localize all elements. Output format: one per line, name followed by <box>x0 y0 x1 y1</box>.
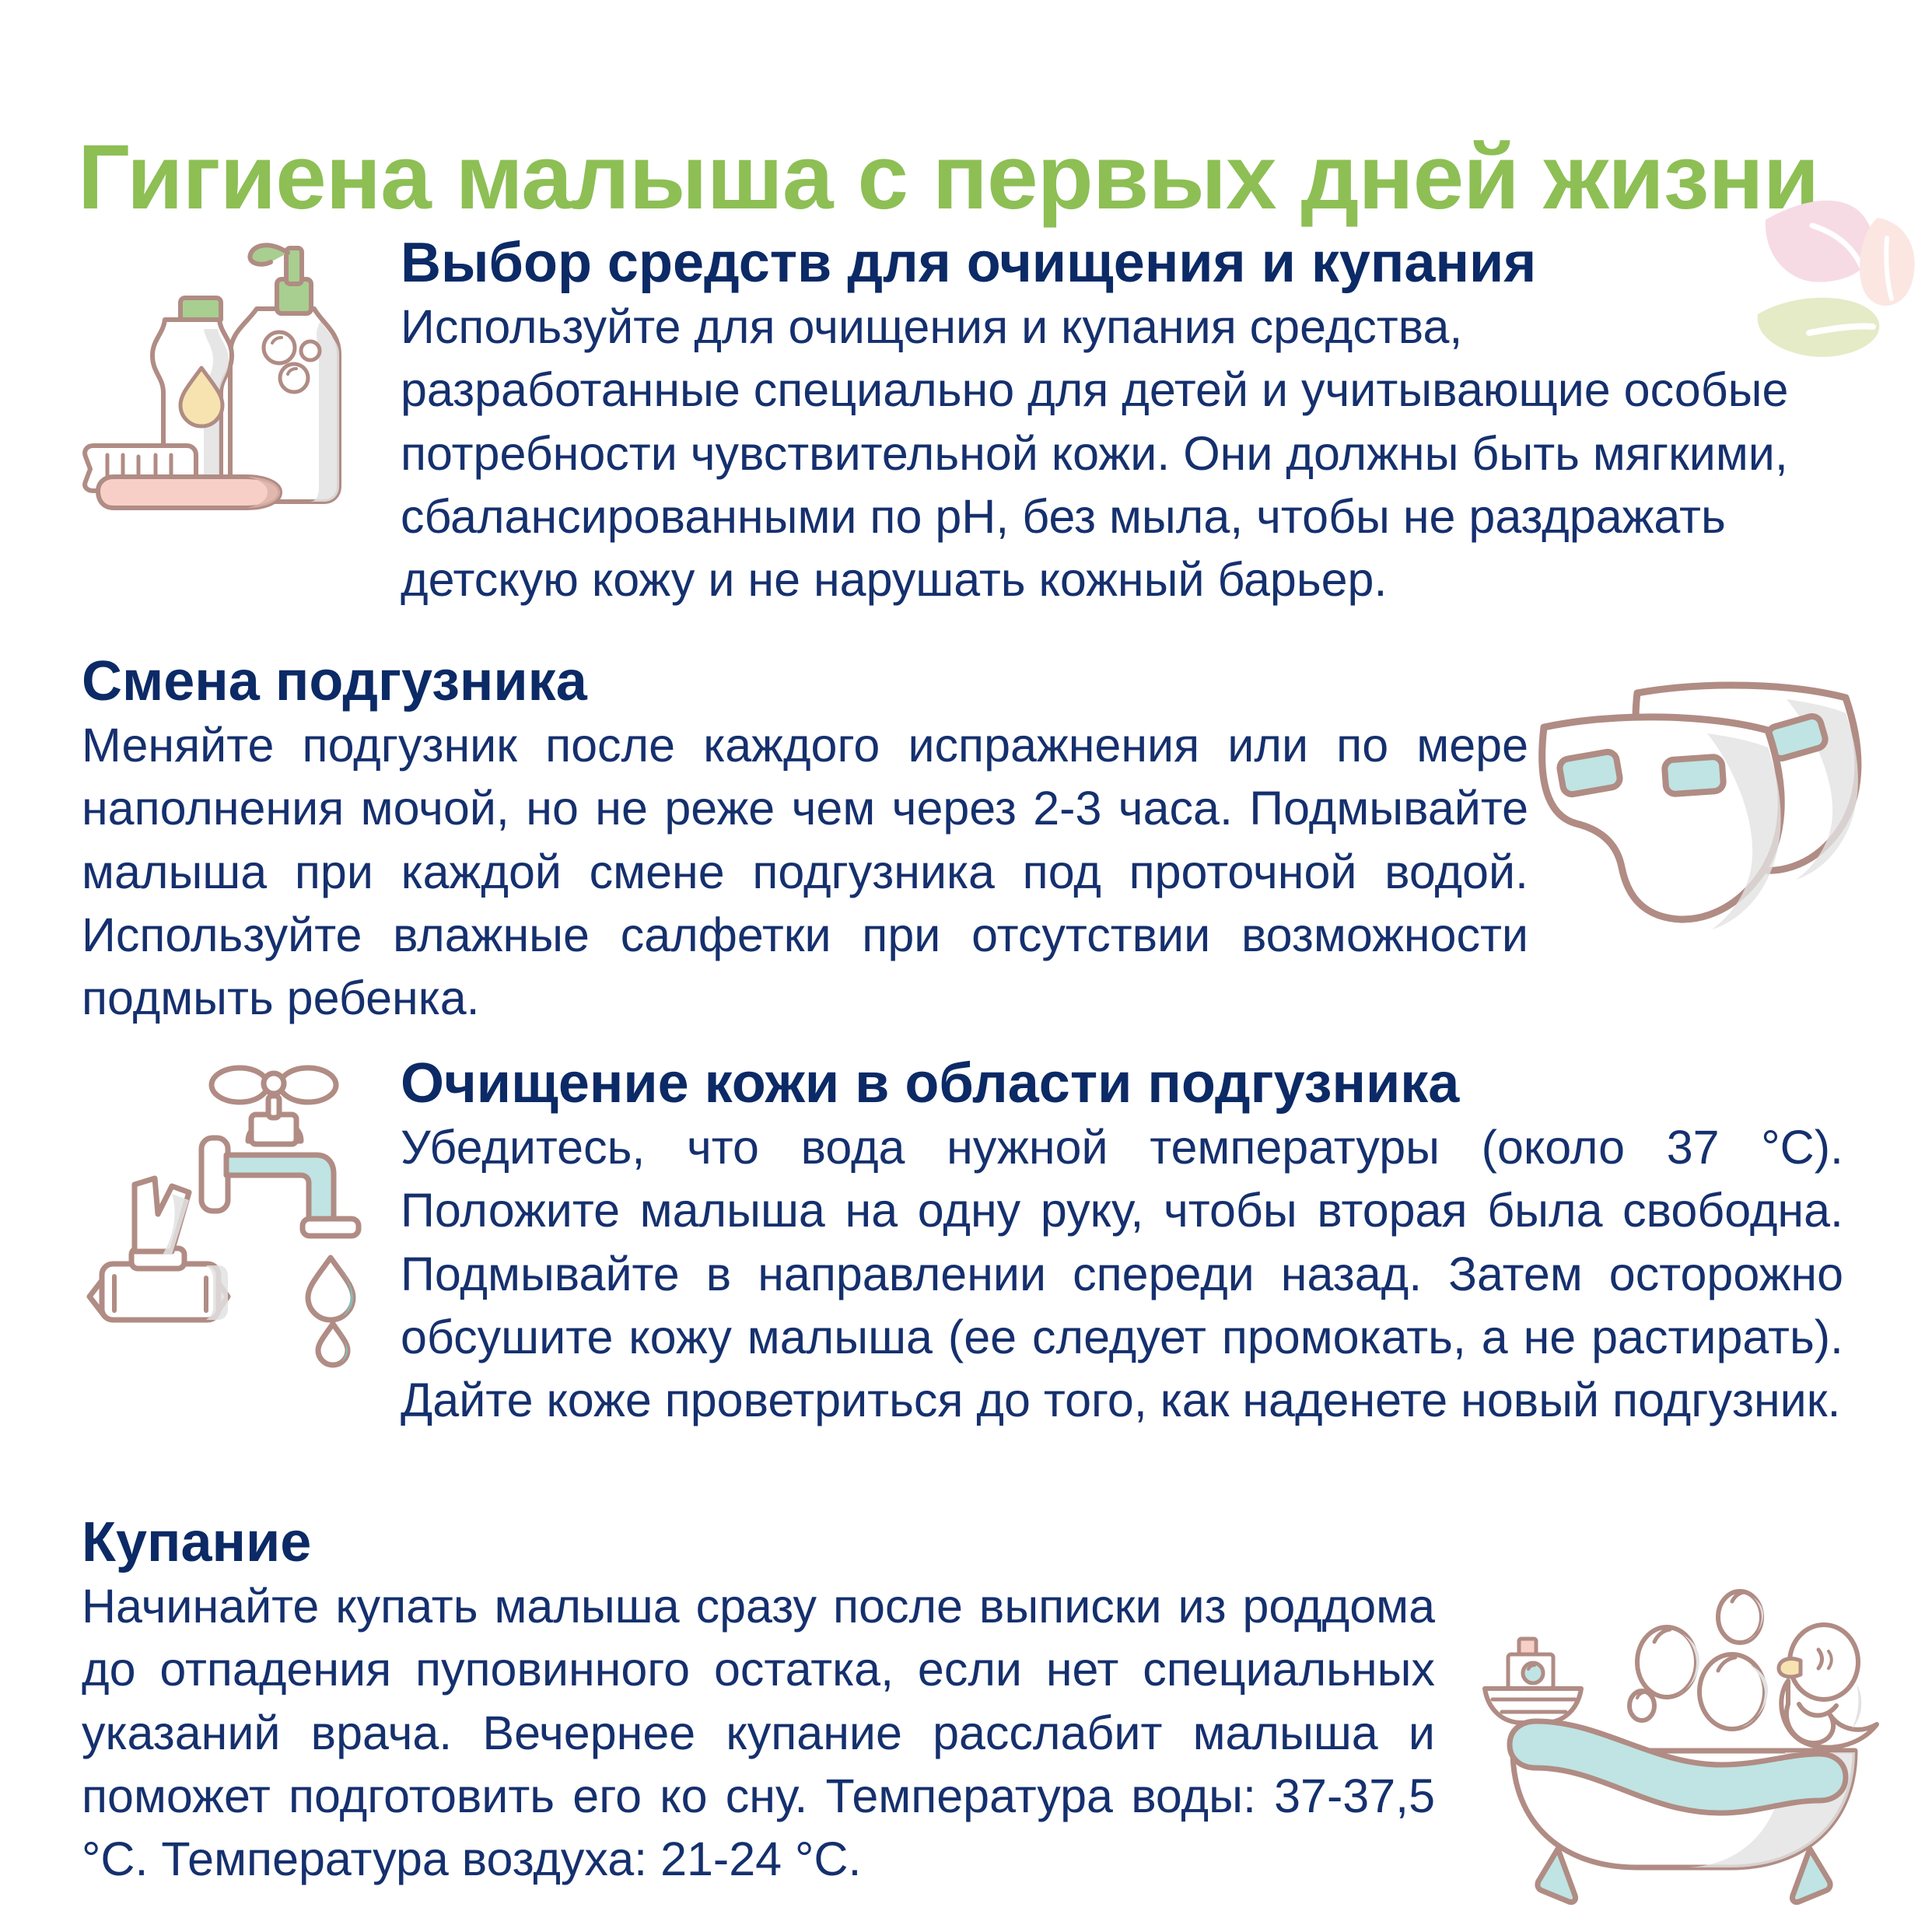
section-heading-diaper-change: Смена подгузника <box>82 652 1528 711</box>
section-heading-bathing: Купание <box>82 1513 1435 1572</box>
section-bathing: Купание Начинайте купать малыша сразу по… <box>82 1513 1435 1891</box>
section-skin-cleansing: Очищение кожи в области подгузника Убеди… <box>401 1054 1843 1432</box>
section-heading-skin-cleansing: Очищение кожи в области подгузника <box>401 1054 1843 1113</box>
diaper-icon <box>1513 673 1925 999</box>
section-body-skin-cleansing: Убедитесь, что вода нужной температуры (… <box>401 1116 1843 1432</box>
section-diaper-change: Смена подгузника Меняйте подгузник после… <box>82 652 1528 1030</box>
bathtub-duck-icon <box>1458 1567 1925 1878</box>
page-title: Гигиена малыша с первых дней жизни <box>78 130 1867 226</box>
section-body-diaper-change: Меняйте подгузник после каждого испражне… <box>82 714 1528 1030</box>
section-cleansing-products: Выбор средств для очищения и купания Исп… <box>401 233 1801 611</box>
section-body-cleansing-products: Используйте для очищения и купания средс… <box>401 296 1801 611</box>
section-body-bathing: Начинайте купать малыша сразу после выпи… <box>82 1575 1435 1891</box>
section-heading-cleansing-products: Выбор средств для очищения и купания <box>401 233 1801 292</box>
faucet-wipes-icon <box>74 1046 385 1373</box>
cleansing-bottles-icon <box>64 222 375 533</box>
